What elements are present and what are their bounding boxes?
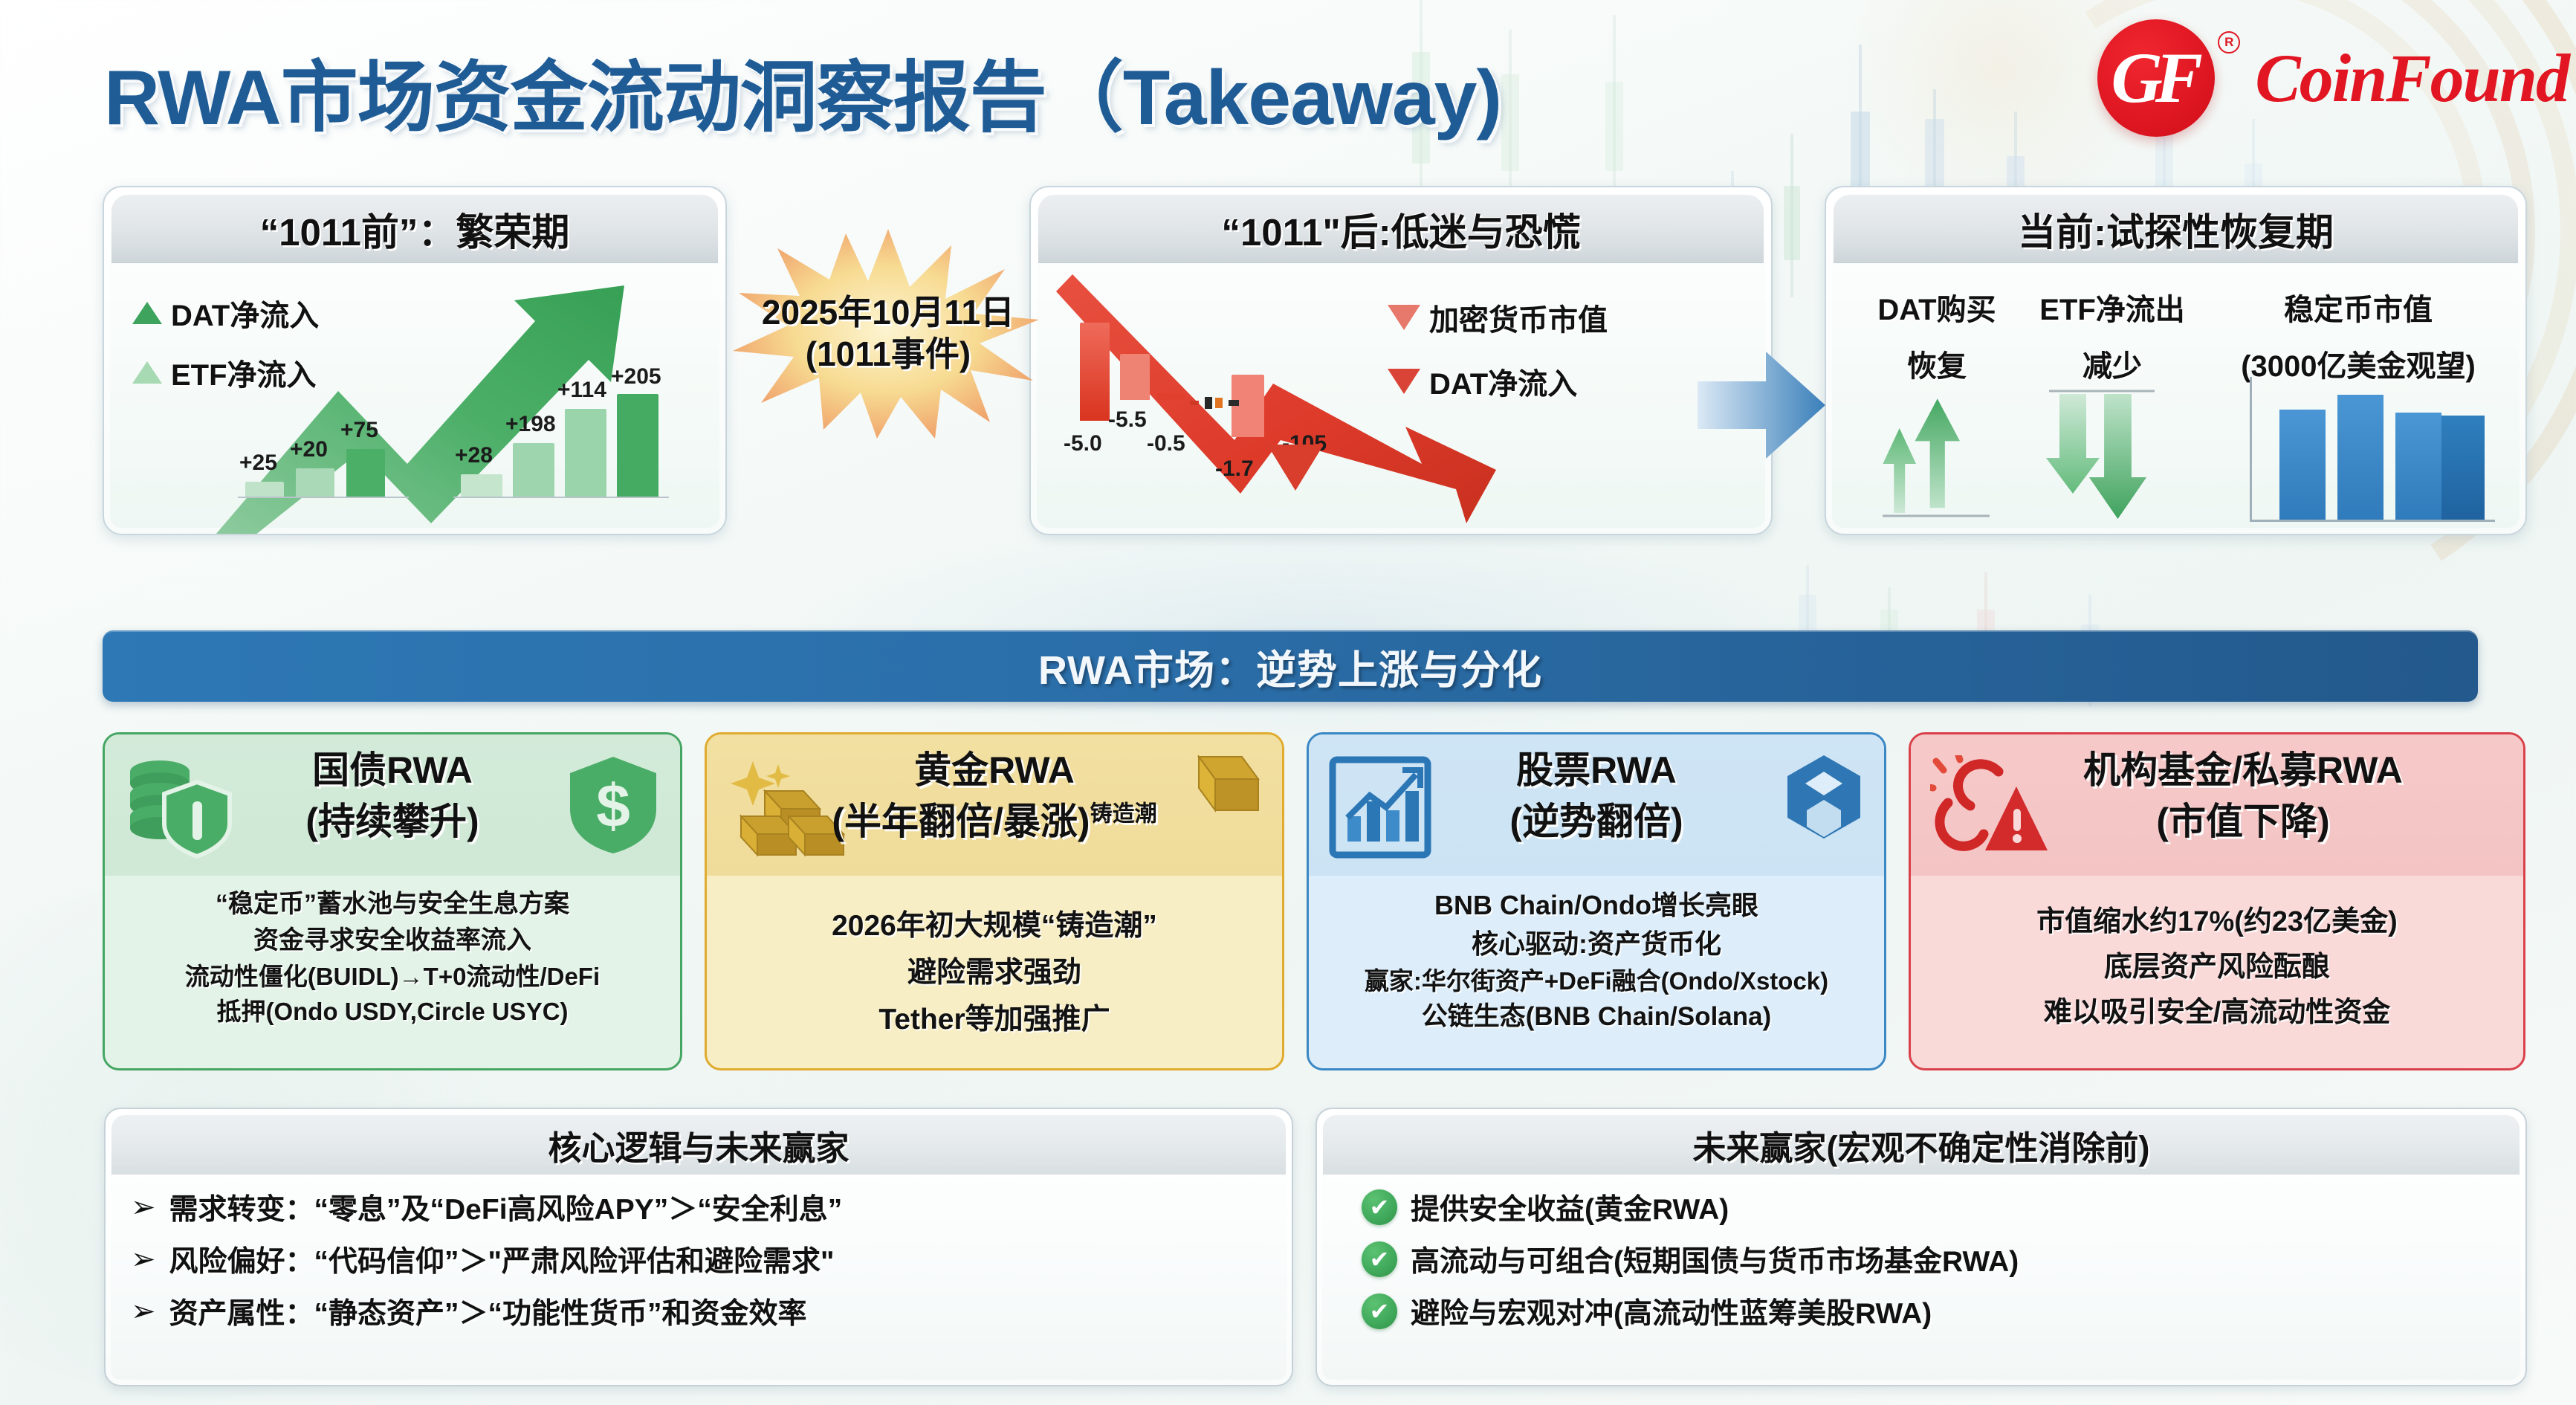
event-badge: 2025年10月11日 (1011事件) [728, 216, 1048, 439]
mini-candlesticks-icon [1190, 395, 1243, 412]
triangle-up-icon [132, 361, 162, 384]
bar-right-2-label: +198 [505, 412, 556, 437]
check-circle-icon: ✔ [1362, 1189, 1397, 1225]
svg-text:$: $ [596, 772, 630, 840]
rwa-card-institutional-title-line2: (市值下降) [1963, 796, 2523, 847]
double-arrow-up-icon [1878, 395, 1997, 522]
bar-left-1 [245, 482, 284, 497]
future-winners-item-1: 提供安全收益(黄金RWA) [1411, 1186, 1729, 1228]
rwa-card-institutional-body: 市值缩水约17%(约23亿美金) 底层资产风险酝酿 难以吸引安全/高流动性资金 [1911, 876, 2523, 1035]
chevron-right-icon: ➢ [131, 1244, 156, 1274]
core-logic-item-3: 资产属性：“静态资产”＞“功能性货币”和资金效率 [169, 1291, 807, 1332]
list-item: ➢ 资产属性：“静态资产”＞“功能性货币”和资金效率 [131, 1291, 1266, 1332]
event-date-line1: 2025年10月11日 [728, 291, 1048, 333]
section-banner-title: RWA市场：逆势上涨与分化 [1038, 637, 1542, 696]
page-title: RWA市场资金流动洞察报告（Takeaway) [104, 34, 1501, 146]
bar-down-1 [1080, 323, 1110, 421]
rwa-card-stock-header: 股票RWA (逆势翻倍) [1309, 734, 1884, 876]
bar-left-2-label: +20 [290, 437, 328, 462]
stablecoin-bar-chart [2250, 377, 2495, 522]
page-title-cn: RWA市场资金流动洞察报告 [104, 55, 1046, 141]
core-logic-item-1: 需求转变：“零息”及“DeFi高风险APY”＞“安全利息” [169, 1186, 843, 1228]
bar-right-1-label: +28 [455, 443, 493, 468]
coinfound-emblem-icon: GF R [2097, 19, 2215, 137]
bar-down-3 [1157, 393, 1185, 400]
phase-card-prosperity-body: DAT净流入 ETF净流入 +25 +20 +7 [104, 263, 725, 534]
list-item: ✔ 提供安全收益(黄金RWA) [1362, 1186, 2500, 1228]
rwa-card-gold-line-2: 避险需求强劲 [714, 949, 1275, 996]
rwa-card-treasury-line-1: “稳定币”蓄水池与安全生息方案 [112, 886, 673, 923]
dollar-shield-icon: $ [566, 752, 661, 856]
phase-card-recovery-body: DAT购买 恢复 ETF净流出 减少 稳定币市值 (3000亿美金观望) [1826, 263, 2525, 534]
phase-card-recovery: 当前:试探性恢复期 DAT购买 恢复 ETF净流出 减少 稳定币市值 (3000… [1825, 186, 2527, 535]
rwa-card-institutional-line-1: 市值缩水约17%(约23亿美金) [1918, 899, 2516, 945]
rwa-card-treasury-header: 国债RWA (持续攀升) $ [105, 734, 680, 876]
bars-axis-right [453, 497, 669, 498]
phase-card-prosperity: “1011前”：繁荣期 DAT净流入 ETF净流入 [103, 186, 727, 535]
rwa-card-gold-header: 黄金RWA (半年翻倍/暴涨)铸造潮 [707, 734, 1282, 876]
panel-future-winners: 未来赢家(宏观不确定性消除前) ✔ 提供安全收益(黄金RWA) ✔ 高流动与可组… [1315, 1108, 2527, 1386]
panel-future-winners-title: 未来赢家(宏观不确定性消除前) [1693, 1121, 2150, 1169]
panel-core-logic-title: 核心逻辑与未来赢家 [548, 1121, 849, 1169]
list-item: ➢ 风险偏好：“代码信仰”＞"严肃风险评估和避险需求" [131, 1238, 1266, 1280]
rwa-card-gold-title-line2: (半年翻倍/暴涨) [832, 801, 1090, 842]
double-arrow-down-icon [2042, 381, 2168, 522]
bar-left-2 [296, 468, 334, 497]
phase-card-downturn: “1011"后:低迷与恐慌 加密货币市值 DAT净流入 [1029, 186, 1773, 535]
bar-right-3 [565, 409, 606, 497]
phase-cards-row: “1011前”：繁荣期 DAT净流入 ETF净流入 [0, 186, 2576, 558]
page-title-en: （Takeaway) [1046, 55, 1501, 141]
rwa-card-treasury-body: “稳定币”蓄水池与安全生息方案 资金寻求安全收益率流入 流动性僵化(BUIDL)… [105, 876, 680, 1030]
gold-bar-icon [1174, 752, 1263, 834]
phase-card-recovery-title: 当前:试探性恢复期 [2018, 201, 2334, 256]
metric-dat-buy-line1: DAT购买 [1859, 285, 2015, 329]
rwa-card-treasury[interactable]: 国债RWA (持续攀升) $ “稳定币”蓄水池与安全生息方案 资金寻求安全收益率… [103, 732, 682, 1070]
future-winners-item-2: 高流动与可组合(短期国债与货币市场基金RWA) [1411, 1238, 2019, 1280]
list-item: ✔ 高流动与可组合(短期国债与货币市场基金RWA) [1362, 1238, 2500, 1280]
stablecoin-bar-2 [2337, 395, 2384, 520]
check-circle-icon: ✔ [1362, 1241, 1397, 1277]
rwa-card-stock-line-2: 核心驱动:资产货币化 [1316, 925, 1877, 963]
rwa-card-treasury-line-3: 流动性僵化(BUIDL)→T+0流动性/DeFi [112, 959, 673, 995]
bar-left-3-label: +75 [340, 418, 378, 443]
triangle-down-icon [1267, 445, 1324, 491]
rwa-card-stock-body: BNB Chain/Ondo增长亮眼 核心驱动:资产货币化 赢家:华尔街资产+D… [1309, 876, 1884, 1036]
brand-wordmark: CoinFound [2234, 39, 2569, 117]
event-date-line2: (1011事件) [728, 333, 1048, 375]
bar-right-1 [461, 474, 502, 497]
event-badge-text: 2025年10月11日 (1011事件) [728, 291, 1048, 375]
rwa-card-gold-body: 2026年初大规模“铸造潮” 避险需求强劲 Tether等加强推广 [707, 876, 1282, 1044]
rwa-card-stock-line-4: 公链生态(BNB Chain/Solana) [1316, 998, 1877, 1036]
rwa-card-institutional-line-2: 底层资产风险酝酿 [1918, 945, 2516, 990]
phase-card-downturn-header: “1011"后:低迷与恐慌 [1038, 195, 1764, 263]
rwa-card-gold-line-3: Tether等加强推广 [714, 996, 1275, 1043]
metric-etf-outflow-line2: 减少 [2019, 342, 2205, 385]
section-banner: RWA市场：逆势上涨与分化 [103, 630, 2478, 702]
triangle-up-icon [132, 302, 162, 324]
rwa-card-institutional[interactable]: 机构基金/私募RWA (市值下降) 市值缩水约17%(约23亿美金) 底层资产风… [1909, 732, 2525, 1070]
metric-stablecoin-marketcap: 稳定币市值 (3000亿美金观望) [2210, 285, 2507, 385]
check-circle-icon: ✔ [1362, 1293, 1397, 1329]
phase-card-prosperity-title: “1011前”：繁荣期 [260, 201, 570, 256]
bar-down-3-label: -0.5 [1147, 431, 1185, 456]
rwa-card-institutional-title-line1: 机构基金/私募RWA [1963, 745, 2523, 796]
stablecoin-bar-3 [2395, 413, 2441, 520]
rwa-card-gold[interactable]: 黄金RWA (半年翻倍/暴涨)铸造潮 2026年初大规模“铸造潮” 避险需求强劲… [705, 732, 1284, 1070]
bar-down-4-label: -1.7 [1215, 456, 1254, 482]
metric-dat-buy: DAT购买 恢复 [1859, 285, 2015, 385]
rwa-card-institutional-header: 机构基金/私募RWA (市值下降) [1911, 734, 2523, 876]
rwa-card-stock[interactable]: 股票RWA (逆势翻倍) BNB Chain/Ondo增长亮眼 核心驱动:资产货… [1307, 732, 1886, 1070]
page-header: RWA市场资金流动洞察报告（Takeaway) GF R CoinFound [0, 0, 2576, 171]
rwa-card-stock-line-3: 赢家:华尔街资产+DeFi融合(Ondo/Xstock) [1316, 963, 1877, 999]
bottom-panels-row: 核心逻辑与未来赢家 ➢ 需求转变：“零息”及“DeFi高风险APY”＞“安全利息… [0, 1108, 2576, 1398]
metric-etf-outflow-line1: ETF净流出 [2019, 285, 2205, 329]
panel-future-winners-header: 未来赢家(宏观不确定性消除前) [1323, 1115, 2520, 1175]
phase-card-recovery-header: 当前:试探性恢复期 [1834, 195, 2518, 263]
bars-axis-left [238, 497, 409, 498]
rwa-card-treasury-line-4: 抵押(Ondo USDY,Circle USYC) [112, 994, 673, 1030]
panel-future-winners-list: ✔ 提供安全收益(黄金RWA) ✔ 高流动与可组合(短期国债与货币市场基金RWA… [1317, 1175, 2525, 1332]
bar-right-4 [617, 394, 658, 497]
rwa-card-stock-line-1: BNB Chain/Ondo增长亮眼 [1316, 886, 1877, 925]
stablecoin-bar-1 [2279, 410, 2326, 520]
rwa-card-treasury-line-2: 资金寻求安全收益率流入 [112, 923, 673, 959]
bar-down-2-label: -5.5 [1108, 407, 1147, 433]
red-down-trend-arrow-icon [1050, 271, 1570, 531]
rwa-card-institutional-line-3: 难以吸引安全/高流动性资金 [1918, 990, 2516, 1036]
metric-etf-outflow: ETF净流出 减少 [2019, 285, 2205, 385]
future-winners-item-3: 避险与宏观对冲(高流动性蓝筹美股RWA) [1411, 1291, 1932, 1332]
panel-core-logic: 核心逻辑与未来赢家 ➢ 需求转变：“零息”及“DeFi高风险APY”＞“安全利息… [104, 1108, 1293, 1386]
bar-right-4-label: +205 [611, 364, 661, 390]
bar-left-3 [346, 449, 385, 497]
metric-dat-buy-line2: 恢复 [1859, 342, 2015, 385]
brand-logo: GF R CoinFound [2097, 19, 2569, 137]
panel-core-logic-header: 核心逻辑与未来赢家 [111, 1115, 1286, 1175]
bar-down-2 [1120, 354, 1150, 400]
bar-right-3-label: +114 [557, 378, 606, 403]
stablecoin-bar-4 [2441, 416, 2485, 520]
chevron-right-icon: ➢ [131, 1296, 156, 1326]
rwa-cards-row: 国债RWA (持续攀升) $ “稳定币”蓄水池与安全生息方案 资金寻求安全收益率… [0, 732, 2576, 1082]
core-logic-item-2: 风险偏好：“代码信仰”＞"严肃风险评估和避险需求" [169, 1238, 835, 1280]
panel-core-logic-list: ➢ 需求转变：“零息”及“DeFi高风险APY”＞“安全利息” ➢ 风险偏好：“… [106, 1175, 1292, 1332]
chevron-right-icon: ➢ [131, 1192, 156, 1222]
phase-card-downturn-body: 加密货币市值 DAT净流入 -5.0 -5.5 -0.5 [1031, 263, 1771, 534]
rwa-card-gold-superscript: 铸造潮 [1090, 801, 1157, 826]
right-arrow-icon [1695, 338, 1828, 472]
cube-icon [1783, 752, 1865, 842]
rwa-card-gold-line-1: 2026年初大规模“铸造潮” [714, 902, 1275, 949]
bar-left-1-label: +25 [239, 450, 277, 476]
list-item: ➢ 需求转变：“零息”及“DeFi高风险APY”＞“安全利息” [131, 1186, 1266, 1228]
metric-stablecoin-line1: 稳定币市值 [2210, 285, 2507, 329]
bar-right-2 [513, 443, 554, 497]
phase-card-downturn-title: “1011"后:低迷与恐慌 [1221, 201, 1580, 256]
rwa-card-institutional-title: 机构基金/私募RWA (市值下降) [1911, 745, 2523, 847]
phase-card-prosperity-header: “1011前”：繁荣期 [111, 195, 718, 263]
bar-down-1-label: -5.0 [1064, 431, 1102, 456]
list-item: ✔ 避险与宏观对冲(高流动性蓝筹美股RWA) [1362, 1291, 2500, 1332]
brand-mark-letters: GF [2111, 42, 2201, 114]
registered-trademark-icon: R [2218, 31, 2240, 54]
